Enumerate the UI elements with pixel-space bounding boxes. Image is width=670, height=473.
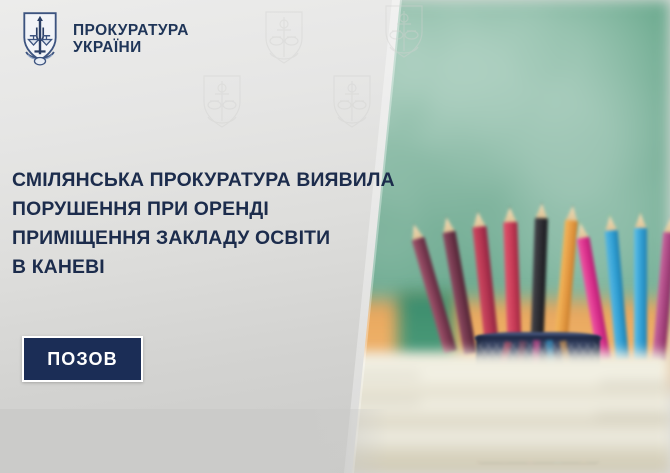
headline-line: ПРИМІЩЕННЯ ЗАКЛАДУ ОСВІТИ — [12, 224, 432, 253]
category-badge[interactable]: ПОЗОВ — [22, 336, 143, 382]
headline-line: ПОРУШЕННЯ ПРИ ОРЕНДІ — [12, 195, 432, 224]
brand-header: ПРОКУРАТУРА УКРАЇНИ — [16, 10, 189, 68]
prosecutor-emblem-icon — [16, 10, 64, 68]
watermark-emblem-icon — [378, 2, 430, 62]
pencil — [634, 206, 647, 360]
headline-line: СМІЛЯНСЬКА ПРОКУРАТУРА ВИЯВИЛА — [12, 166, 432, 195]
watermark-emblem-icon — [326, 72, 378, 132]
prosecutor-news-banner: ПРОКУРАТУРА УКРАЇНИ СМІЛЯНСЬКА ПРОКУРАТУ… — [0, 0, 670, 473]
headline-line: В КАНЕВІ — [12, 253, 432, 282]
category-badge-label: ПОЗОВ — [47, 349, 117, 370]
watermark-emblem-icon — [258, 8, 310, 68]
organization-name: ПРОКУРАТУРА УКРАЇНИ — [73, 22, 189, 56]
page-title: СМІЛЯНСЬКА ПРОКУРАТУРА ВИЯВИЛА ПОРУШЕННЯ… — [12, 166, 432, 282]
watermark-emblem-icon — [196, 72, 248, 132]
bottom-gray-strip — [0, 409, 670, 473]
